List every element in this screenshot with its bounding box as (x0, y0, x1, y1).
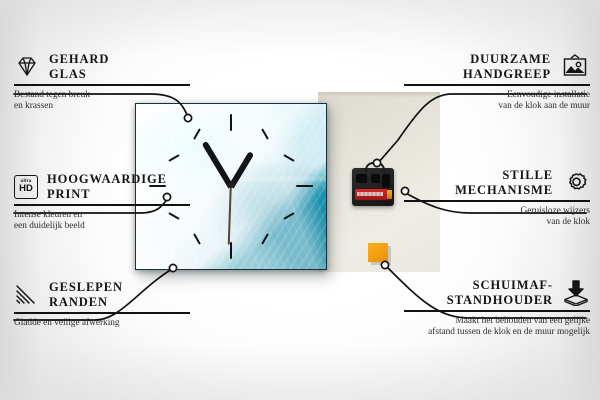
feature-title: GESLEPEN RANDEN (49, 280, 123, 309)
diamond-icon (14, 56, 40, 78)
feature-header: ultra HD HOOGWAARDIGE PRINT (14, 172, 190, 201)
feature-divider (404, 84, 590, 86)
feature-gehard-glas: GEHARD GLAS Bestand tegen breuk en krass… (14, 52, 190, 113)
feature-hoogwaardige-print: ultra HD HOOGWAARDIGE PRINT Intense kleu… (14, 172, 190, 233)
feature-header: GESLEPEN RANDEN (14, 280, 190, 309)
feature-header: GEHARD GLAS (14, 52, 190, 81)
feature-divider (14, 84, 190, 86)
gear-icon (562, 170, 590, 196)
feature-description: Eenvoudige installatie van de klok aan d… (404, 90, 590, 113)
feature-divider (14, 204, 190, 206)
connector-endpoint-standhouder (381, 261, 388, 268)
feature-header: DUURZAME HANDGREEP (404, 52, 590, 81)
beveled-edges-icon (14, 284, 40, 306)
feature-geslepen-randen: GESLEPEN RANDEN Gladde en veilige afwerk… (14, 280, 190, 329)
feature-divider (14, 312, 190, 314)
connector-endpoint-randen (169, 264, 176, 271)
feature-title: GEHARD GLAS (49, 52, 109, 81)
feature-header: SCHUIMAF- STANDHOUDER (404, 278, 590, 307)
feature-header: STILLE MECHANISME (404, 168, 590, 197)
feature-divider (404, 310, 590, 312)
feature-schuimaf-standhouder: SCHUIMAF- STANDHOUDER Maakt het behouden… (404, 278, 590, 339)
badge-bottom-text: HD (19, 184, 33, 194)
framed-picture-hanging-icon (560, 54, 590, 80)
feature-title: STILLE MECHANISME (455, 168, 553, 197)
connector-endpoint-gehard-glas (184, 114, 191, 121)
feature-description: Gladde en veilige afwerking (14, 318, 190, 330)
feature-description: Maakt het behouden van een gelijke afsta… (404, 316, 590, 339)
infographic-canvas: GEHARD GLAS Bestand tegen breuk en krass… (0, 0, 600, 400)
feature-description: Geruisloze wijzers van de klok (404, 206, 590, 229)
ultra-hd-badge-icon: ultra HD (14, 175, 38, 199)
connector-endpoint-handgreep (373, 159, 380, 166)
feature-title: HOOGWAARDIGE PRINT (47, 172, 167, 201)
feature-description: Bestand tegen breuk en krassen (14, 90, 190, 113)
feature-title: DUURZAME HANDGREEP (463, 52, 551, 81)
feature-description: Intense kleuren en een duidelijk beeld (14, 210, 190, 233)
feature-title: SCHUIMAF- STANDHOUDER (447, 278, 553, 307)
spacer-arrow-down-icon (562, 280, 590, 306)
feature-duurzame-handgreep: DUURZAME HANDGREEP Eenvoudige installati… (404, 52, 590, 113)
feature-divider (404, 200, 590, 202)
feature-stille-mechanisme: STILLE MECHANISME Geruisloze wijzers van… (404, 168, 590, 229)
